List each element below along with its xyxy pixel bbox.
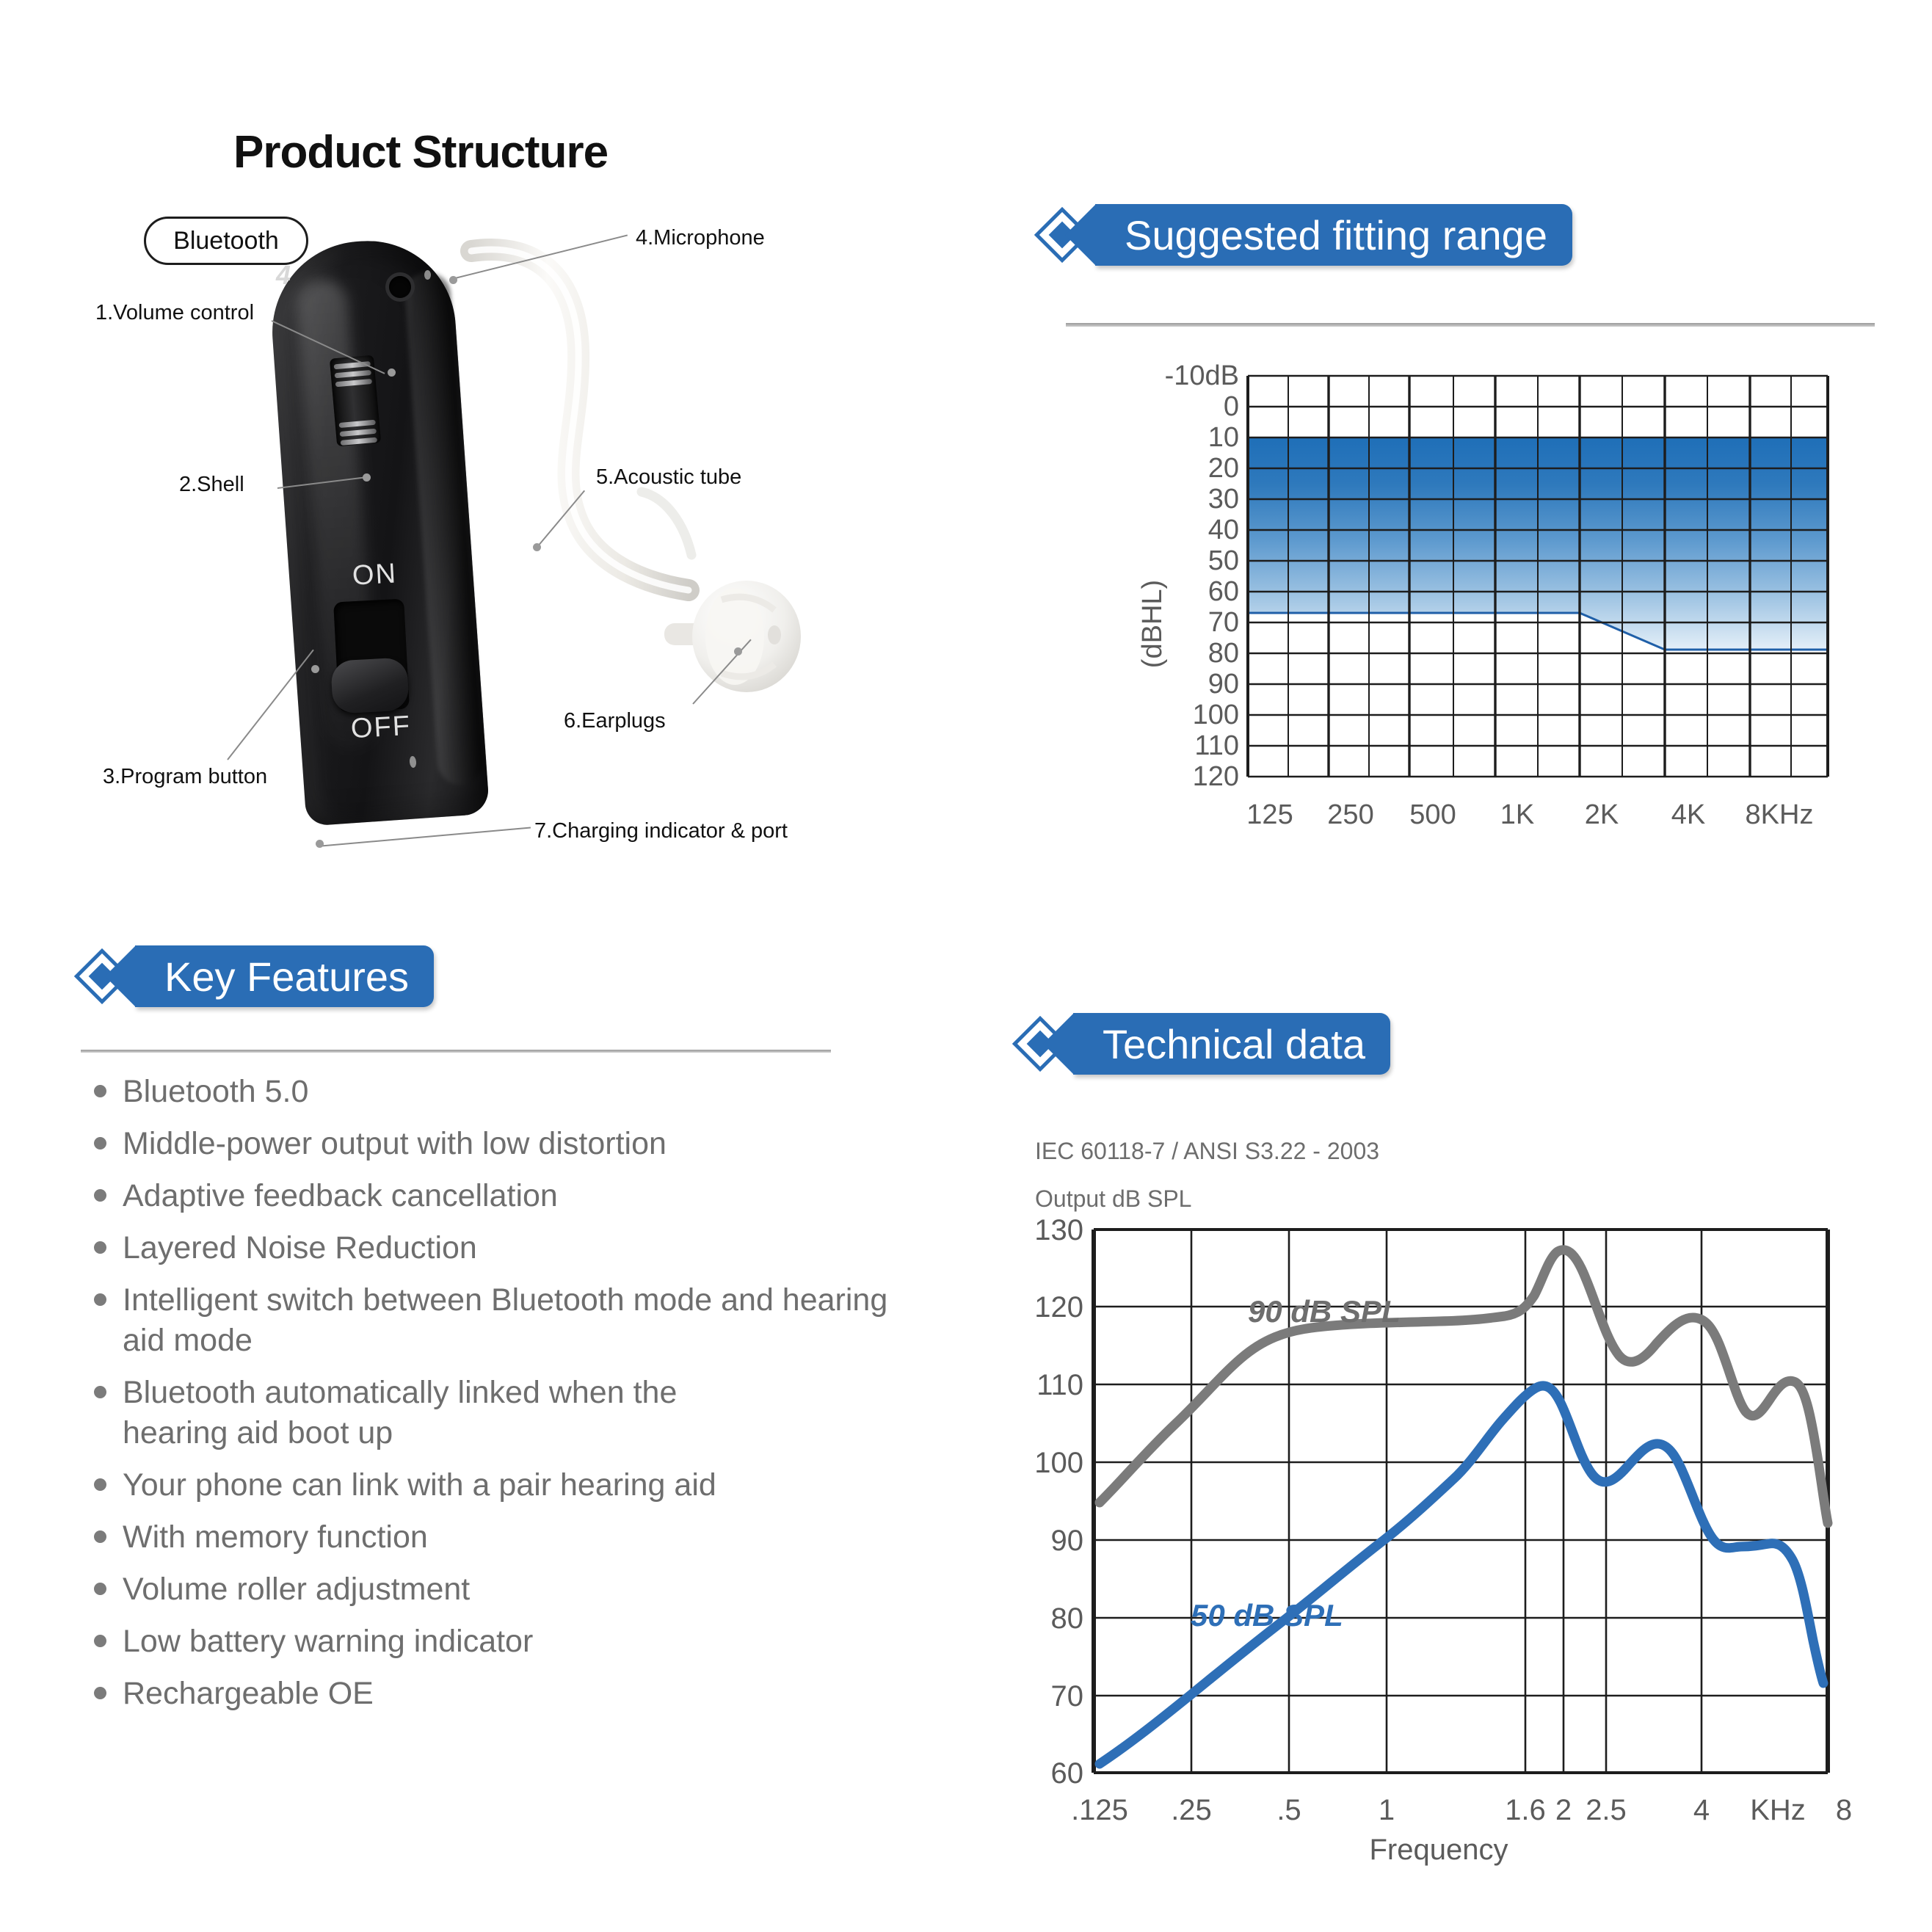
bullet-icon: [94, 1635, 106, 1647]
svg-text:130: 130: [1034, 1215, 1083, 1246]
curve-50db-spl: [1100, 1386, 1823, 1764]
audiogram-y-axis-title: (dBHL): [1137, 580, 1168, 668]
tech-x-ticks: .125 .25 .5 1 1.6 2 2.5 4 KHz 8: [1071, 1794, 1852, 1826]
bullet-icon: [94, 1085, 106, 1097]
callout-acoustic-tube: 5.Acoustic tube: [596, 465, 741, 490]
svg-text:.125: .125: [1071, 1794, 1128, 1826]
bullet-icon: [94, 1293, 106, 1306]
svg-text:1.6: 1.6: [1505, 1794, 1546, 1826]
bullet-icon: [94, 1189, 106, 1202]
svg-text:80: 80: [1051, 1602, 1084, 1635]
svg-text:60: 60: [1051, 1757, 1084, 1790]
fitting-range-divider: [1066, 323, 1875, 327]
key-features-list: Bluetooth 5.0 Middle-power output with l…: [81, 1072, 984, 1726]
svg-text:70: 70: [1208, 607, 1239, 638]
technical-data-banner: Technical data: [1020, 1013, 1390, 1075]
audiogram-y-ticks: -10dB 0 10 20 30 40 50 60 70 80 90 100 1…: [1165, 360, 1239, 792]
list-item: Your phone can link with a pair hearing …: [81, 1465, 984, 1506]
bluetooth-tag-label: Bluetooth: [173, 227, 279, 255]
microphone-port-icon: [389, 276, 411, 298]
leader-dot-charging: [316, 840, 324, 848]
leader-dot-microphone: [449, 276, 457, 284]
callout-shell: 2.Shell: [179, 473, 244, 497]
callout-program-button: 3.Program button: [103, 765, 267, 789]
bullet-icon: [94, 1137, 106, 1150]
svg-text:100: 100: [1193, 700, 1239, 730]
svg-text:50: 50: [1208, 545, 1239, 576]
list-item: With memory function: [81, 1517, 984, 1558]
bullet-icon: [94, 1583, 106, 1595]
svg-text:250: 250: [1327, 799, 1373, 830]
fitting-range-heading: Suggested fitting range: [1095, 204, 1572, 266]
annotation-50db-spl: 50 dB SPL: [1191, 1598, 1343, 1633]
svg-text:30: 30: [1208, 484, 1239, 515]
tech-x-axis-title: Frequency: [1370, 1834, 1508, 1866]
svg-text:90: 90: [1208, 669, 1239, 700]
list-item: Intelligent switch between Bluetooth mod…: [81, 1280, 984, 1361]
list-item: Low battery warning indicator: [81, 1621, 984, 1662]
annotation-90db-spl: 90 dB SPL: [1248, 1294, 1401, 1329]
program-button-knob[interactable]: [330, 657, 410, 713]
list-item: Rechargeable OE: [81, 1674, 984, 1714]
svg-text:90: 90: [1051, 1525, 1084, 1557]
callout-earplugs: 6.Earplugs: [564, 709, 666, 733]
svg-text:8: 8: [1836, 1794, 1852, 1826]
frequency-response-chart: 90 dB SPL 50 dB SPL 130 120 110 100 90 8…: [1028, 1215, 1909, 1875]
leader-dot-volume-control: [388, 368, 396, 377]
bullet-icon: [94, 1241, 106, 1254]
svg-text:2K: 2K: [1585, 799, 1619, 830]
leader-dot-acoustic-tube: [533, 543, 541, 551]
technical-output-axis-label: Output dB SPL: [1035, 1185, 1191, 1213]
svg-text:110: 110: [1036, 1369, 1083, 1401]
leader-dot-shell: [363, 473, 371, 482]
microphone-secondary-port-icon: [424, 270, 431, 280]
audiogram-chart: -10dB 0 10 20 30 40 50 60 70 80 90 100 1…: [1130, 360, 1894, 874]
svg-text:8KHz: 8KHz: [1746, 799, 1814, 830]
svg-text:10: 10: [1208, 422, 1239, 453]
callout-microphone: 4.Microphone: [636, 226, 765, 250]
list-item: Adaptive feedback cancellation: [81, 1176, 984, 1216]
key-features-banner: Key Features: [82, 945, 434, 1007]
list-item: Volume roller adjustment: [81, 1569, 984, 1610]
svg-text:4K: 4K: [1671, 799, 1705, 830]
technical-data-heading: Technical data: [1073, 1013, 1390, 1075]
svg-text:80: 80: [1208, 638, 1239, 669]
list-item: Bluetooth 5.0: [81, 1072, 984, 1112]
switch-on-label: ON: [352, 558, 398, 592]
svg-text:120: 120: [1034, 1291, 1083, 1323]
audiogram-x-ticks: 125 250 500 1K 2K 4K 8KHz: [1246, 799, 1813, 830]
svg-text:70: 70: [1051, 1680, 1084, 1713]
svg-text:1K: 1K: [1500, 799, 1534, 830]
bullet-icon: [94, 1478, 106, 1491]
svg-text:.5: .5: [1276, 1794, 1301, 1826]
curve-90db-spl: [1100, 1250, 1828, 1523]
bullet-icon: [94, 1386, 106, 1398]
svg-text:100: 100: [1034, 1447, 1083, 1479]
svg-text:2.5: 2.5: [1586, 1794, 1627, 1826]
svg-text:0: 0: [1224, 391, 1239, 422]
switch-off-label: OFF: [350, 711, 412, 745]
callout-volume-control: 1.Volume control: [95, 301, 254, 325]
list-item: Middle-power output with low distortion: [81, 1124, 984, 1164]
svg-text:-10dB: -10dB: [1165, 360, 1239, 391]
leader-dot-earplugs: [734, 647, 742, 655]
key-features-heading: Key Features: [135, 945, 434, 1007]
list-item: Layered Noise Reduction: [81, 1228, 984, 1268]
svg-text:500: 500: [1409, 799, 1456, 830]
technical-standard-text: IEC 60118-7 / ANSI S3.22 - 2003: [1035, 1138, 1379, 1165]
callout-charging: 7.Charging indicator & port: [534, 819, 788, 843]
list-item: Bluetooth automatically linked when the …: [81, 1373, 984, 1453]
svg-text:20: 20: [1208, 453, 1239, 484]
svg-text:.25: .25: [1171, 1794, 1212, 1826]
bullet-icon: [94, 1530, 106, 1543]
svg-text:60: 60: [1208, 576, 1239, 607]
svg-text:1: 1: [1379, 1794, 1395, 1826]
svg-text:2: 2: [1555, 1794, 1572, 1826]
svg-text:4: 4: [1693, 1794, 1710, 1826]
tech-y-ticks: 130 120 110 100 90 80 70 60: [1034, 1215, 1083, 1790]
svg-text:110: 110: [1194, 730, 1239, 761]
svg-text:125: 125: [1246, 799, 1293, 830]
svg-text:120: 120: [1193, 761, 1239, 792]
key-features-divider: [81, 1050, 831, 1053]
bullet-icon: [94, 1687, 106, 1699]
fitting-range-banner: Suggested fitting range: [1042, 204, 1572, 266]
volume-roller-number: 4: [276, 260, 291, 291]
earplug-graphic: [664, 569, 811, 708]
leader-dot-program-button: [311, 665, 319, 673]
svg-text:KHz: KHz: [1750, 1794, 1806, 1826]
page-title: Product Structure: [233, 126, 608, 178]
svg-text:40: 40: [1208, 515, 1239, 545]
hearing-aid-illustration: 4 ON OFF: [264, 228, 675, 844]
